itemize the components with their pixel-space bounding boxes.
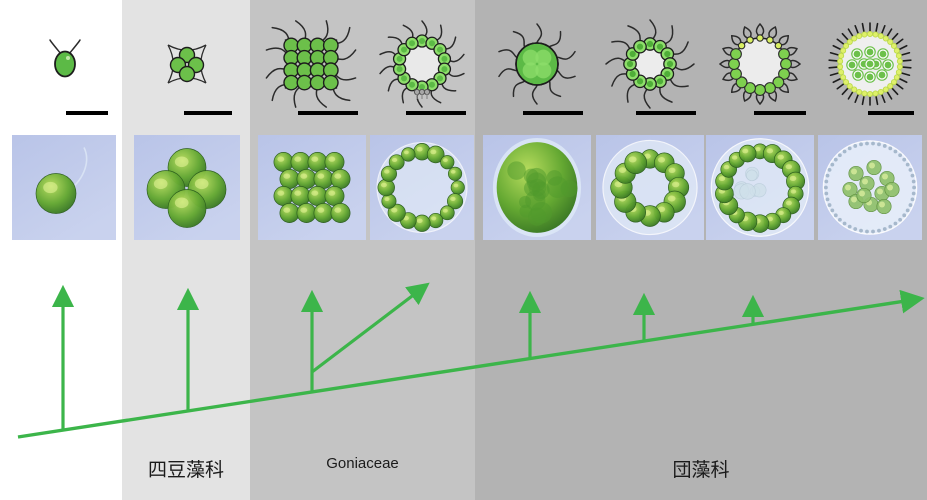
evolution-arrow-layer: [0, 0, 927, 500]
volvocine-evolution-figure: 四豆藻科Goniaceae団藻科: [0, 0, 927, 500]
